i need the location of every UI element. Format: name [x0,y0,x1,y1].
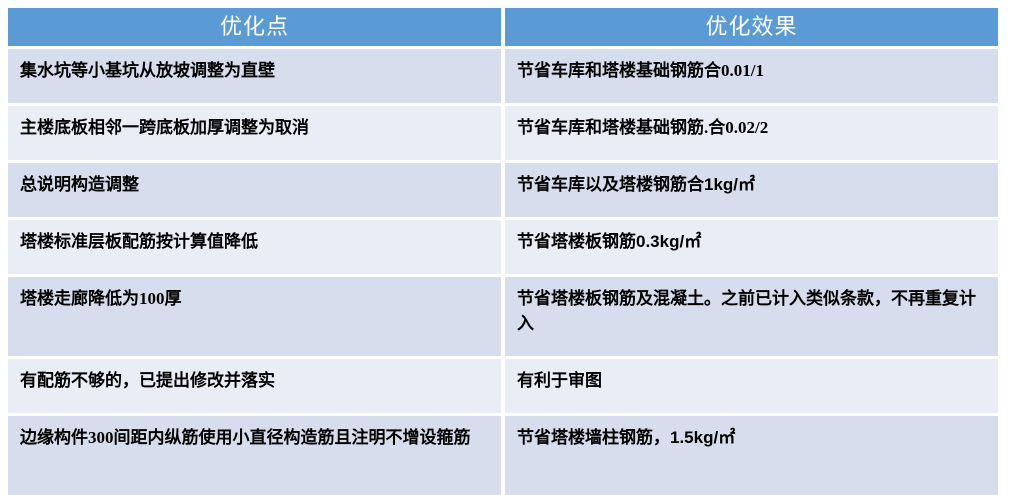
cell-text: 节省车库和塔楼基础钢筋.合0.02/2 [517,115,988,140]
table-row: 塔楼走廊降低为100厚 节省塔楼板钢筋及混凝土。之前已计入类似条款，不再重复计入 [8,277,998,356]
table-row: 总说明构造调整 节省车库以及塔楼钢筋合1kg/㎡ [8,163,998,217]
optimization-table: 优化点 优化效果 集水坑等小基坑从放坡调整为直壁 节省车库和塔楼基础钢筋合0.0… [8,8,998,495]
table-row: 边缘构件300间距内纵筋使用小直径构造筋且注明不增设箍筋 节省塔楼墙柱钢筋，1.… [8,416,998,495]
cell-text: 节省车库和塔楼基础钢筋合0.01/1 [517,58,988,83]
cell-text: 节省塔楼板钢筋及混凝土。之前已计入类似条款，不再重复计入 [517,286,988,336]
cell-text: 节省塔楼板钢筋0.3kg/㎡ [517,229,988,254]
cell-text: 主楼底板相邻一跨底板加厚调整为取消 [20,115,491,140]
cell-optimization-effect: 节省车库和塔楼基础钢筋合0.01/1 [505,49,998,103]
cell-optimization-point: 有配筋不够的，已提出修改并落实 [8,359,501,413]
table-row: 塔楼标准层板配筋按计算值降低 节省塔楼板钢筋0.3kg/㎡ [8,220,998,274]
cell-optimization-effect: 节省塔楼板钢筋0.3kg/㎡ [505,220,998,274]
cell-text: 塔楼走廊降低为100厚 [20,286,491,311]
table-header: 优化点 优化效果 [8,8,998,46]
cell-optimization-point: 塔楼标准层板配筋按计算值降低 [8,220,501,274]
table-body: 集水坑等小基坑从放坡调整为直壁 节省车库和塔楼基础钢筋合0.01/1 主楼底板相… [8,46,998,495]
cell-optimization-effect: 节省车库以及塔楼钢筋合1kg/㎡ [505,163,998,217]
cell-optimization-point: 主楼底板相邻一跨底板加厚调整为取消 [8,106,501,160]
table-row: 集水坑等小基坑从放坡调整为直壁 节省车库和塔楼基础钢筋合0.01/1 [8,49,998,103]
table-row: 有配筋不够的，已提出修改并落实 有利于审图 [8,359,998,413]
cell-optimization-effect: 节省塔楼板钢筋及混凝土。之前已计入类似条款，不再重复计入 [505,277,998,356]
cell-text: 边缘构件300间距内纵筋使用小直径构造筋且注明不增设箍筋 [20,425,491,450]
cell-optimization-point: 集水坑等小基坑从放坡调整为直壁 [8,49,501,103]
cell-text: 集水坑等小基坑从放坡调整为直壁 [20,58,491,83]
cell-optimization-effect: 节省车库和塔楼基础钢筋.合0.02/2 [505,106,998,160]
cell-optimization-effect: 有利于审图 [505,359,998,413]
cell-text: 节省塔楼墙柱钢筋，1.5kg/㎡ [517,425,988,450]
cell-text: 总说明构造调整 [20,172,491,197]
column-header-optimization-effect: 优化效果 [505,8,998,46]
cell-optimization-point: 边缘构件300间距内纵筋使用小直径构造筋且注明不增设箍筋 [8,416,501,495]
cell-optimization-effect: 节省塔楼墙柱钢筋，1.5kg/㎡ [505,416,998,495]
cell-optimization-point: 塔楼走廊降低为100厚 [8,277,501,356]
table-row: 主楼底板相邻一跨底板加厚调整为取消 节省车库和塔楼基础钢筋.合0.02/2 [8,106,998,160]
optimization-table-container: 优化点 优化效果 集水坑等小基坑从放坡调整为直壁 节省车库和塔楼基础钢筋合0.0… [8,8,998,495]
cell-text: 有配筋不够的，已提出修改并落实 [20,368,491,393]
column-header-optimization-point: 优化点 [8,8,501,46]
cell-text: 塔楼标准层板配筋按计算值降低 [20,229,491,254]
cell-optimization-point: 总说明构造调整 [8,163,501,217]
header-row: 优化点 优化效果 [8,8,998,46]
cell-text: 节省车库以及塔楼钢筋合1kg/㎡ [517,172,988,197]
cell-text: 有利于审图 [517,368,988,393]
